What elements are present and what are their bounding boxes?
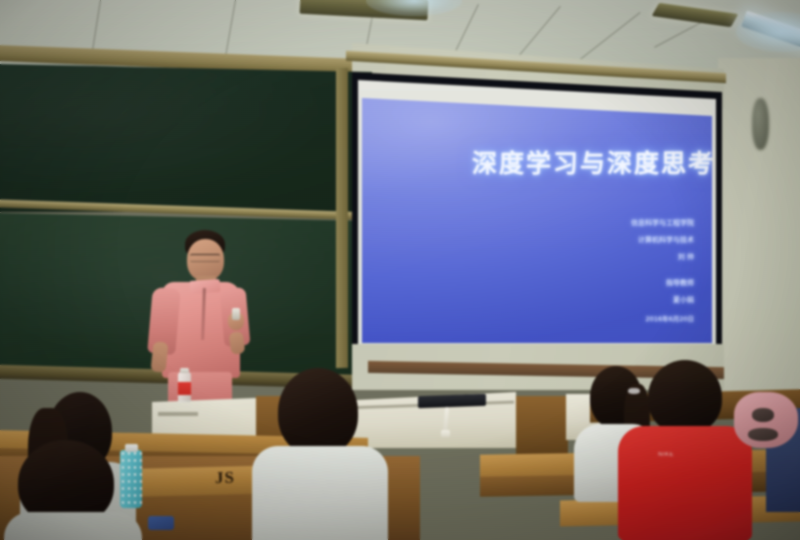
slide-subtitle-line-1: 信息科学与工程学院 <box>631 218 694 228</box>
classroom-photo: 深度学习与深度思考 信息科学与工程学院 计算机科学与技术 刘 帅 指导教师 夏小… <box>0 0 800 540</box>
pink-bag-detail-lower <box>748 428 778 441</box>
laptop-cable-end <box>441 430 450 437</box>
laptop <box>418 394 486 408</box>
slide-subtitle-line-7: 2016年6月20日 <box>646 313 694 323</box>
blackboard-right-edge <box>336 68 348 368</box>
desk-marking-js: JS <box>215 468 235 489</box>
slide-title: 深度学习与深度思考 <box>472 144 712 180</box>
slide-subtitle-line-3: 刘 帅 <box>678 252 694 262</box>
wall-mounted-object <box>752 98 769 150</box>
student-body <box>618 426 752 540</box>
pink-bag-detail <box>752 408 774 422</box>
presenter-glasses <box>190 254 220 262</box>
presentation-remote <box>232 308 240 320</box>
slide-subtitle-line-5: 指导教师 <box>666 278 694 288</box>
slide-subtitle-line-2: 计算机科学与技术 <box>638 235 694 245</box>
water-bottle-teal-cap <box>125 444 138 452</box>
projected-slide: 深度学习与深度思考 信息科学与工程学院 计算机科学与技术 刘 帅 指导教师 夏小… <box>362 98 712 343</box>
bottle-pattern <box>120 450 142 508</box>
student-body <box>252 446 388 540</box>
student-shirt-text: NIKE <box>658 452 674 458</box>
student-head <box>648 360 722 434</box>
water-bottle-label <box>178 382 191 395</box>
podium-edge-strip <box>158 412 198 416</box>
slide-subtitle-line-6: 夏小娟 <box>673 295 694 305</box>
student-body <box>4 512 142 540</box>
blue-item <box>148 516 174 530</box>
student-head <box>278 368 358 456</box>
water-bottle-cap <box>180 368 189 373</box>
water-bottle-teal <box>120 450 142 508</box>
blackboard-upper-panel <box>0 64 372 212</box>
hair-tie <box>628 388 640 394</box>
